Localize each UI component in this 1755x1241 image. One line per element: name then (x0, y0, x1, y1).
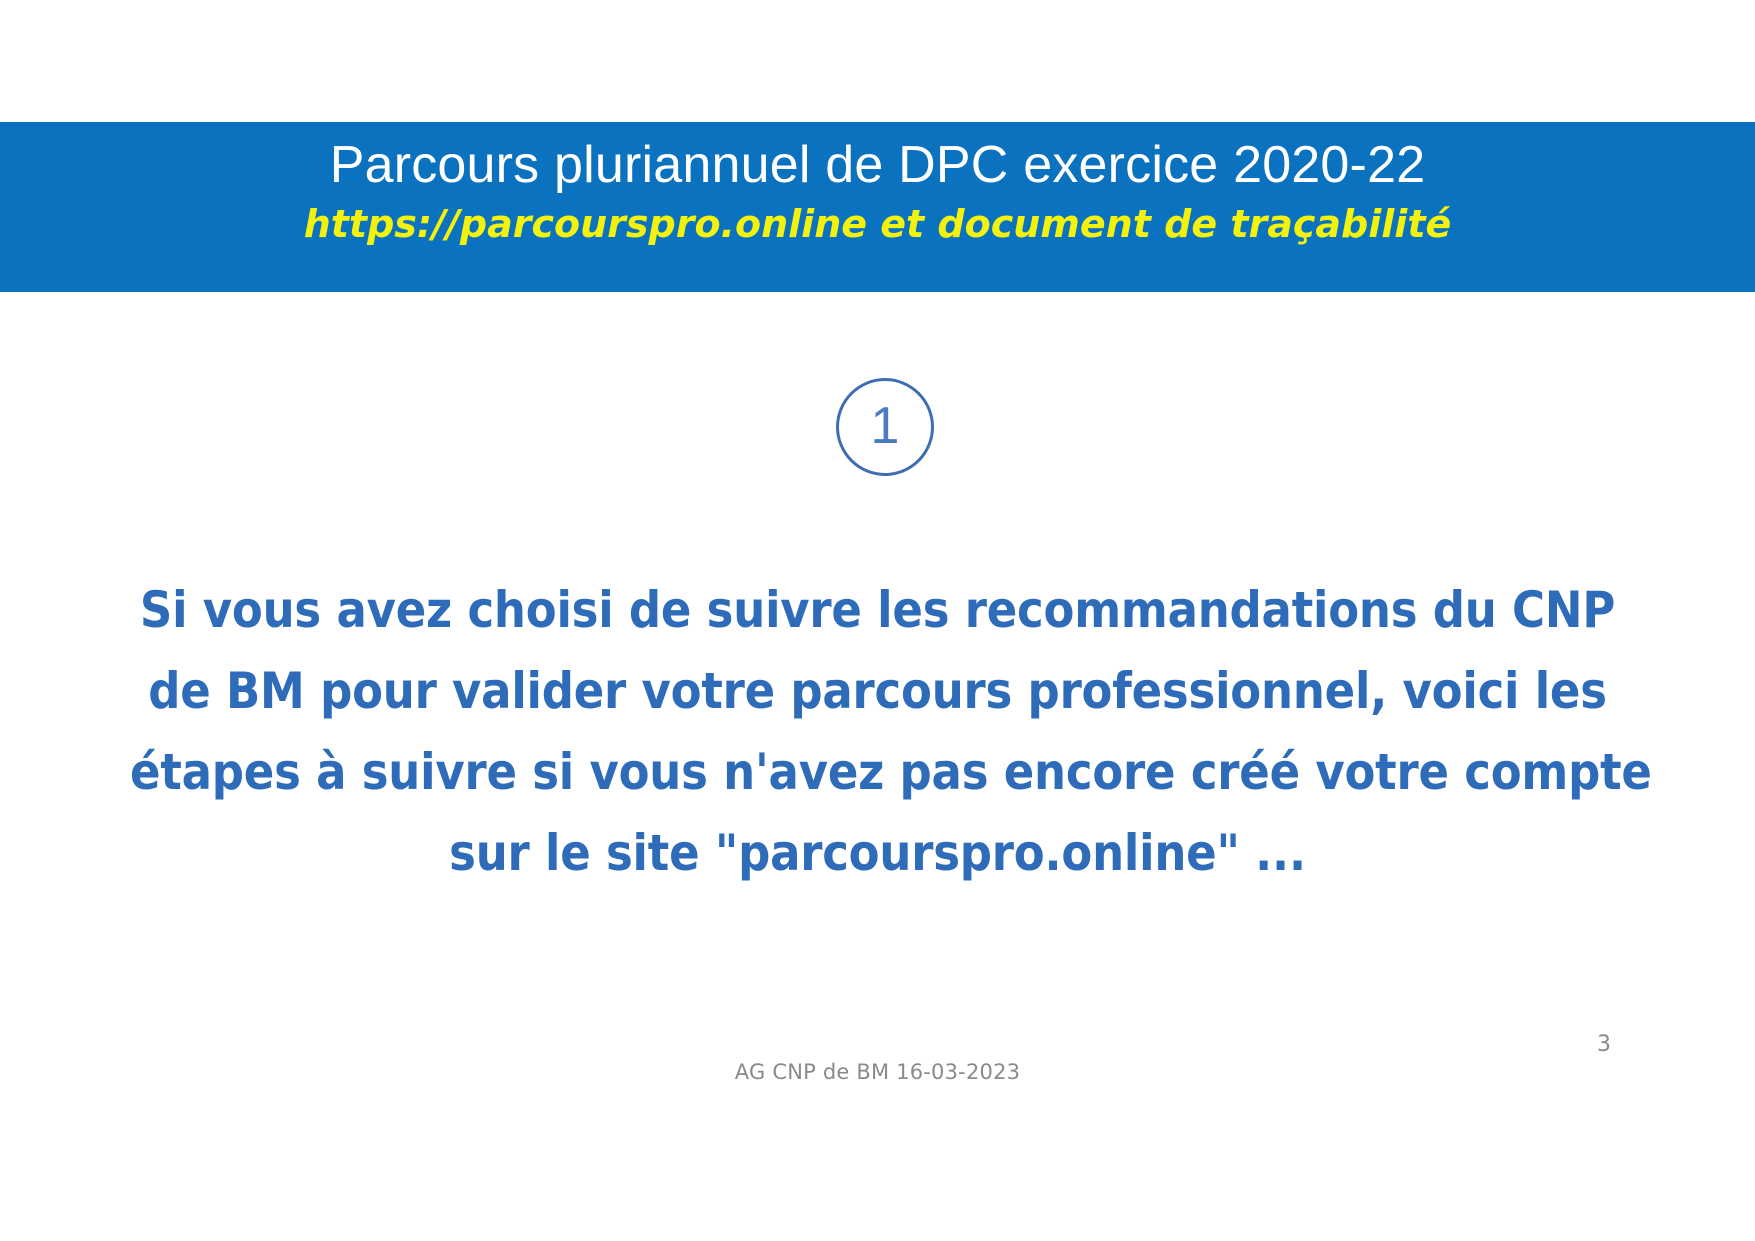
slide-title: Parcours pluriannuel de DPC exercice 202… (0, 136, 1755, 194)
slide-number: 3 (1580, 1032, 1628, 1057)
numbered-circle-icon: 1 (836, 378, 934, 476)
step-number-label: 1 (871, 400, 900, 452)
body-line-4: sur le site "parcourspro.online" ... (130, 813, 1625, 894)
body-line-3: étapes à suivre si vous n'avez pas encor… (130, 732, 1625, 813)
body-text-block: Si vous avez choisi de suivre les recomm… (130, 570, 1625, 894)
step-marker: 1 (836, 378, 934, 476)
title-band: Parcours pluriannuel de DPC exercice 202… (0, 122, 1755, 292)
footer-note: AG CNP de BM 16-03-2023 (0, 1060, 1755, 1084)
body-line-2: de BM pour valider votre parcours profes… (130, 651, 1625, 732)
slide-subtitle: https://parcourspro.online et document d… (0, 202, 1755, 248)
slide-canvas: Parcours pluriannuel de DPC exercice 202… (0, 0, 1755, 1241)
body-line-1: Si vous avez choisi de suivre les recomm… (130, 570, 1625, 651)
